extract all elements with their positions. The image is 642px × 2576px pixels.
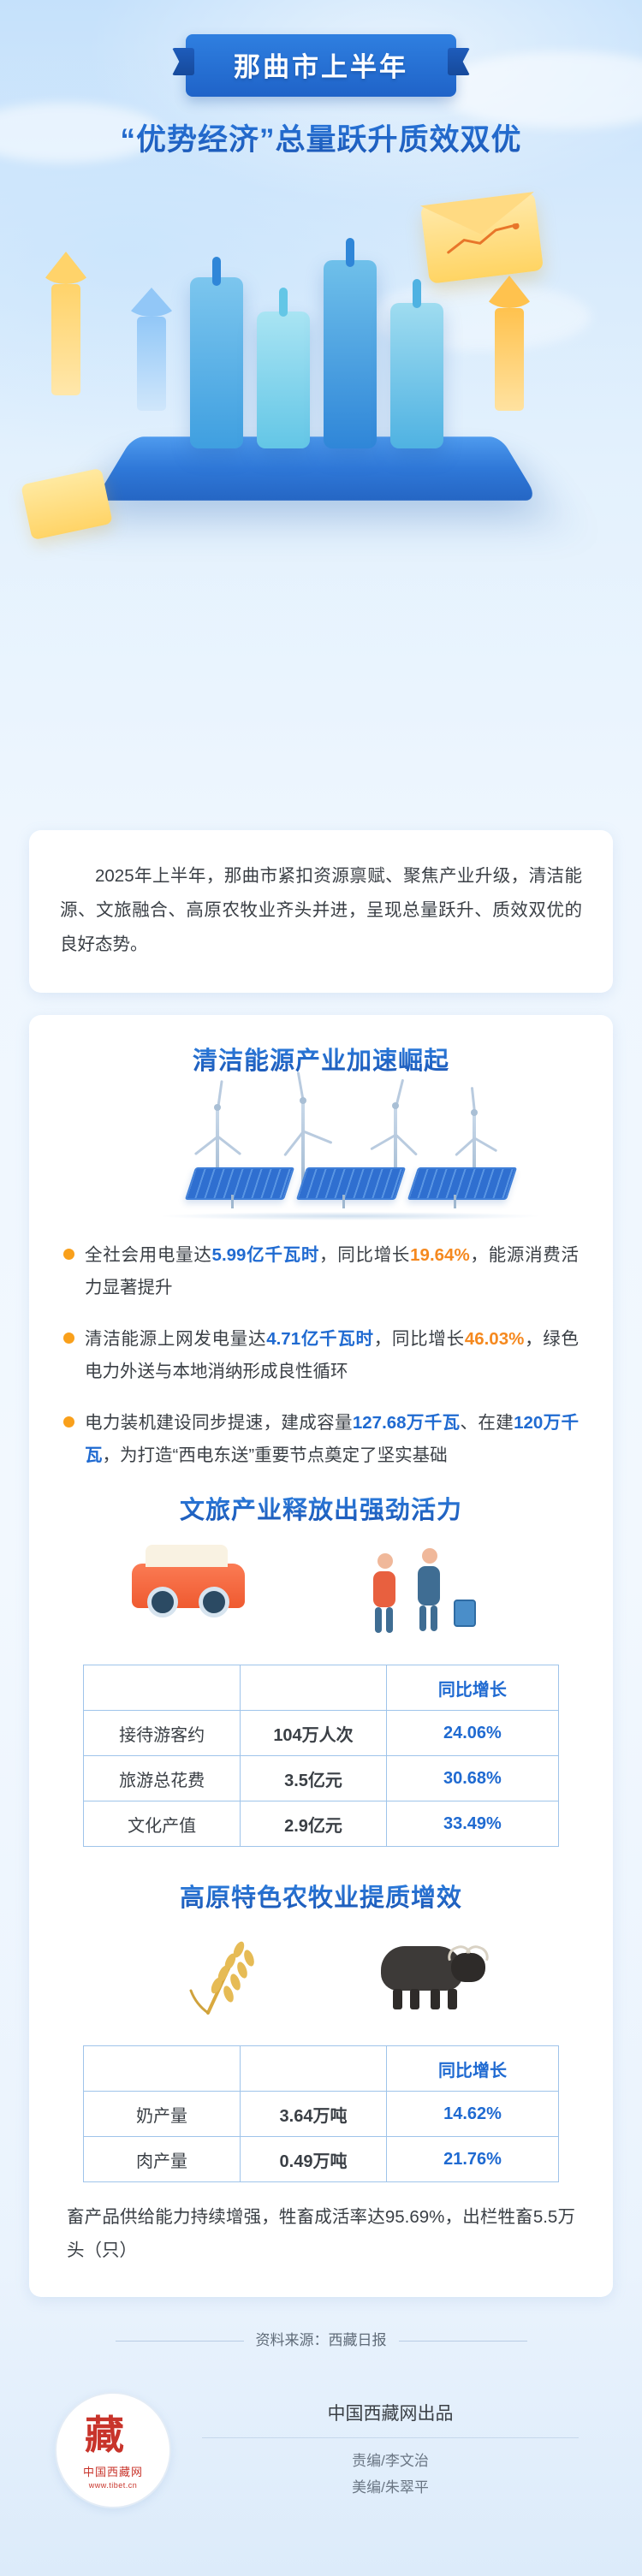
row-value: 0.49万吨 (240, 2137, 386, 2182)
intro-card: 2025年上半年，那曲市紧扣资源禀赋、聚焦产业升级，清洁能源、文旅融合、高原农牧… (29, 830, 613, 993)
traveler-leg (431, 1606, 437, 1631)
hero-illustration (0, 175, 642, 577)
row-growth: 14.62% (387, 2092, 559, 2137)
row-label: 奶产量 (84, 2092, 241, 2137)
arrow-up-right-icon (495, 276, 535, 411)
yak-leg (410, 1989, 419, 2009)
tourism-table: 同比增长 接待游客约 104万人次 24.06% 旅游总花费 3.5亿元 30.… (83, 1665, 559, 1847)
car-wheel (147, 1587, 178, 1617)
traveler-leg (419, 1606, 426, 1631)
designer-credit: 美编/朱翠平 (193, 2475, 587, 2502)
hero-section: 那曲市上半年 “优势经济”总量跃升质效双优 (0, 0, 642, 839)
row-growth: 33.49% (386, 1801, 558, 1847)
list-item: 清洁能源上网发电量达4.71亿千瓦时，同比增长46.03%，绿色电力外送与本地消… (63, 1323, 579, 1388)
bullet-highlight-growth: 19.64% (410, 1245, 470, 1265)
travelers-icon (365, 1548, 484, 1634)
source-bar: 资料来源：西藏日报 (29, 2319, 613, 2361)
bullet-text: 清洁能源上网发电量达4.71亿千瓦时，同比增长46.03%，绿色电力外送与本地消… (85, 1323, 579, 1388)
suitcase-icon (454, 1600, 476, 1627)
title-block: 那曲市上半年 “优势经济”总量跃升质效双优 (0, 0, 642, 159)
traveler-head (377, 1553, 393, 1569)
table-row: 旅游总花费 3.5亿元 30.68% (84, 1756, 559, 1801)
bullet-text: 电力装机建设同步提速，建成容量127.68万千瓦、在建120万千瓦，为打造“西电… (85, 1407, 579, 1472)
source-label: 资料来源：西藏日报 (256, 2332, 387, 2348)
yak-leg (448, 1989, 457, 2009)
footer-divider (202, 2437, 579, 2438)
bullet-highlight-growth: 46.03% (465, 1329, 525, 1349)
divider-left (116, 2341, 244, 2342)
logo-name: 中国西藏网 (83, 2463, 143, 2479)
logo-url: www.tibet.cn (89, 2481, 138, 2490)
table-header-growth: 同比增长 (387, 2046, 559, 2092)
table-header-row: 同比增长 (84, 2046, 559, 2092)
candle-2 (279, 288, 288, 317)
row-growth: 30.68% (386, 1756, 558, 1801)
table-row: 文化产值 2.9亿元 33.49% (84, 1801, 559, 1847)
site-logo: 藏 中国西藏网 www.tibet.cn (55, 2392, 171, 2508)
bullet-dot-icon (63, 1416, 74, 1427)
publisher-text: 中国西藏网出品 (193, 2400, 587, 2425)
envelope-icon (420, 192, 544, 284)
row-growth: 24.06% (386, 1711, 558, 1756)
footer: 藏 中国西藏网 www.tibet.cn 中国西藏网出品 责编/李文治 美编/朱… (29, 2370, 613, 2543)
divider-right (399, 2341, 527, 2342)
candle-3 (346, 238, 354, 267)
logo-mark: 藏 (85, 2412, 141, 2460)
bullet-highlight: 5.99亿千瓦时 (212, 1245, 320, 1265)
table-header-blank-1 (84, 1665, 241, 1711)
car-wheel (199, 1587, 229, 1617)
arrow-up-mid-icon (137, 288, 177, 411)
solar-panel-icon (407, 1167, 517, 1200)
bar-4 (390, 303, 443, 448)
table-header-blank-2 (240, 2046, 386, 2092)
table-header-row: 同比增长 (84, 1665, 559, 1711)
solar-panel-icon (296, 1167, 406, 1200)
row-growth: 21.76% (387, 2137, 559, 2182)
tourism-illustration (29, 1538, 613, 1649)
yak-leg (431, 1989, 440, 2009)
bullet-text-part: ，同比增长 (319, 1245, 410, 1265)
solar-panel-leg (454, 1195, 456, 1208)
section-title-agriculture: 高原特色农牧业提质增效 (29, 1878, 613, 1914)
yak-icon (381, 1946, 463, 1991)
page-subtitle: “优势经济”总量跃升质效双优 (0, 116, 642, 159)
table-header-blank-2 (241, 1665, 387, 1711)
intro-text: 2025年上半年，那曲市紧扣资源禀赋、聚焦产业升级，清洁能源、文旅融合、高原农牧… (60, 859, 582, 962)
bar-3 (324, 260, 377, 448)
banner-title: 那曲市上半年 (234, 45, 408, 84)
clean-energy-illustration (29, 1089, 613, 1226)
row-label: 文化产值 (84, 1801, 241, 1847)
solar-panel-icon (185, 1167, 294, 1200)
footer-meta: 中国西藏网出品 责编/李文治 美编/朱翠平 (193, 2400, 587, 2501)
traveler-leg (375, 1607, 382, 1633)
yak-horn (466, 1943, 492, 1962)
car-icon (132, 1564, 245, 1608)
title-banner: 那曲市上半年 (186, 34, 456, 97)
bullet-text-part: 清洁能源上网发电量达 (85, 1329, 266, 1349)
section-title-energy: 清洁能源产业加速崛起 (29, 1041, 613, 1077)
agriculture-illustration (29, 1927, 613, 2030)
row-label: 旅游总花费 (84, 1756, 241, 1801)
bullet-text-part: ，同比增长 (374, 1329, 465, 1349)
list-item: 电力装机建设同步提速，建成容量127.68万千瓦、在建120万千瓦，为打造“西电… (63, 1407, 579, 1472)
row-label: 肉产量 (84, 2137, 241, 2182)
paper-sheet-icon (21, 468, 113, 541)
yak-leg (393, 1989, 402, 2009)
ground-shadow (158, 1212, 543, 1220)
infographic-page: 那曲市上半年 “优势经济”总量跃升质效双优 (0, 0, 642, 2576)
bullet-text-part: ，为打造“西电东送”重要节点奠定了坚实基础 (103, 1445, 448, 1465)
bullet-highlight: 4.71亿千瓦时 (266, 1329, 374, 1349)
list-item: 全社会用电量达5.99亿千瓦时，同比增长19.64%，能源消费活力显著提升 (63, 1239, 579, 1304)
bullet-text-part: 、在建 (461, 1413, 514, 1433)
solar-panel-leg (231, 1195, 234, 1208)
editor-credit: 责编/李文治 (193, 2448, 587, 2475)
bar-2 (257, 312, 310, 448)
bullet-highlight: 127.68万千瓦 (353, 1413, 461, 1433)
table-row: 奶产量 3.64万吨 14.62% (84, 2092, 559, 2137)
bullet-text: 全社会用电量达5.99亿千瓦时，同比增长19.64%，能源消费活力显著提升 (85, 1239, 579, 1304)
traveler-torso (418, 1566, 440, 1606)
bullet-text-part: 电力装机建设同步提速，建成容量 (85, 1413, 353, 1433)
table-row: 接待游客约 104万人次 24.06% (84, 1711, 559, 1756)
row-value: 3.64万吨 (240, 2092, 386, 2137)
yak-head (451, 1953, 485, 1982)
bullet-dot-icon (63, 1333, 74, 1344)
agriculture-note: 畜产品供给能力持续增强，牲畜成活率达95.69%，出栏牲畜5.5万头（只） (67, 2201, 575, 2268)
agriculture-table: 同比增长 奶产量 3.64万吨 14.62% 肉产量 0.49万吨 21.76% (83, 2045, 559, 2182)
arrow-up-left-icon (51, 252, 92, 395)
row-label: 接待游客约 (84, 1711, 241, 1756)
energy-bullet-list: 全社会用电量达5.99亿千瓦时，同比增长19.64%，能源消费活力显著提升 清洁… (29, 1231, 613, 1472)
traveler-torso (373, 1571, 395, 1607)
table-header-blank-1 (84, 2046, 241, 2092)
car-roof (146, 1545, 228, 1567)
content-card: 清洁能源产业加速崛起 (29, 1015, 613, 2297)
candle-1 (212, 257, 221, 286)
bullet-dot-icon (63, 1249, 74, 1260)
bullet-text-part: 全社会用电量达 (85, 1245, 212, 1265)
row-value: 3.5亿元 (241, 1756, 387, 1801)
traveler-leg (386, 1607, 393, 1633)
podium-shape (94, 436, 538, 501)
table-row: 肉产量 0.49万吨 21.76% (84, 2137, 559, 2182)
solar-panel-leg (342, 1195, 345, 1208)
traveler-woman (373, 1553, 395, 1607)
table-header-growth: 同比增长 (386, 1665, 558, 1711)
traveler-head (422, 1548, 437, 1564)
candle-4 (413, 279, 421, 308)
row-value: 2.9亿元 (241, 1801, 387, 1847)
traveler-man (418, 1548, 440, 1606)
row-value: 104万人次 (241, 1711, 387, 1756)
section-title-tourism: 文旅产业释放出强劲活力 (29, 1490, 613, 1526)
bar-1 (190, 277, 243, 448)
barley-icon (179, 1939, 273, 2021)
